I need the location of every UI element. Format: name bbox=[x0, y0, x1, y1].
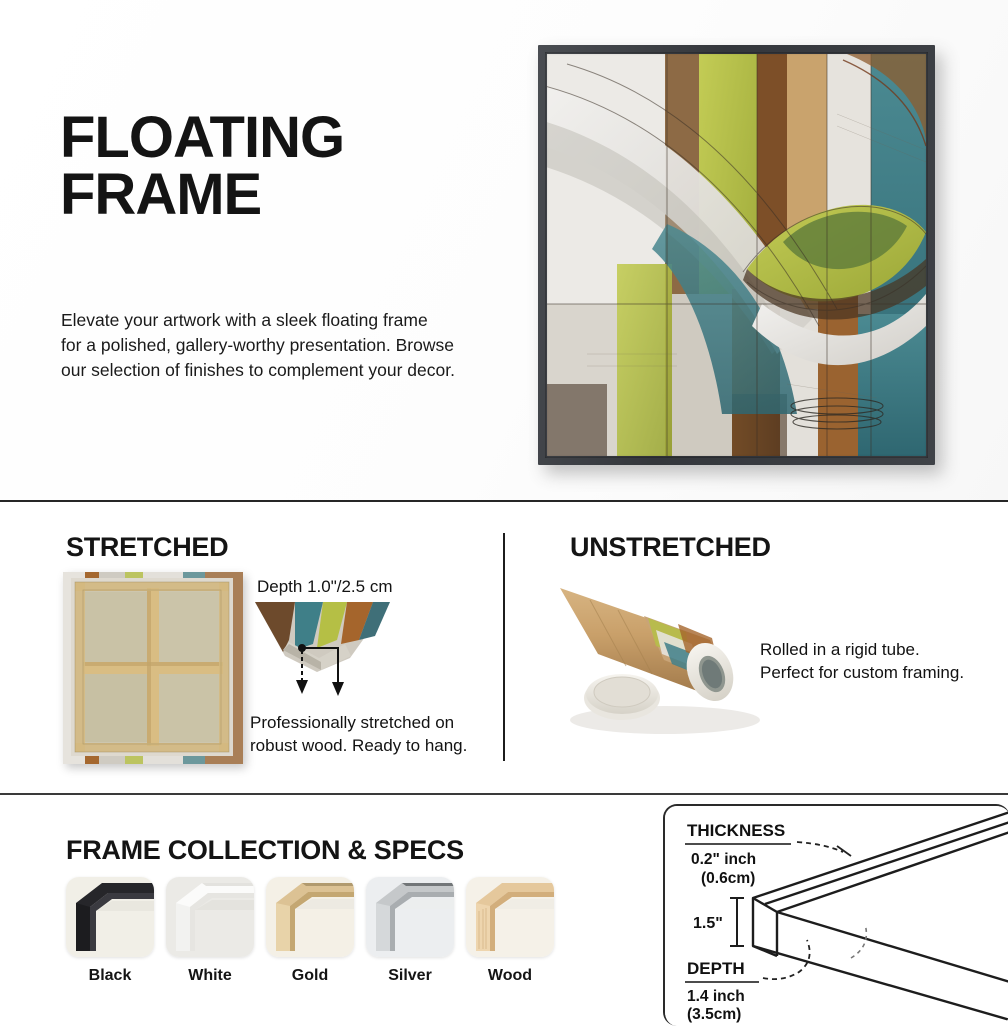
frame-swatch-label-black: Black bbox=[66, 967, 154, 985]
unstretched-heading: UNSTRETCHED bbox=[570, 532, 771, 563]
canvas-back-photo bbox=[63, 572, 243, 764]
frame-swatch-black[interactable]: Black bbox=[66, 877, 154, 985]
hero-section: FLOATING FRAME Elevate your artwork with… bbox=[0, 0, 1008, 502]
frame-swatch-white[interactable]: White bbox=[166, 877, 254, 985]
unstretched-note-line-2: Perfect for custom framing. bbox=[760, 661, 1008, 684]
frame-corner-image-gold bbox=[266, 877, 354, 957]
specs-depth-inch: 1.4 inch bbox=[687, 988, 745, 1005]
frame-swatch-wood[interactable]: Wood bbox=[466, 877, 554, 985]
frame-corner-image-wood bbox=[466, 877, 554, 957]
frame-corner-image-black bbox=[66, 877, 154, 957]
specs-depth-label: DEPTH bbox=[687, 959, 745, 978]
framed-artwork bbox=[538, 45, 935, 465]
frame-collection-section: FRAME COLLECTION & SPECS Black bbox=[0, 795, 1008, 1024]
abstract-painting-image bbox=[547, 54, 926, 456]
depth-dimension-arrows bbox=[290, 642, 370, 702]
specs-depth-cm: (3.5cm) bbox=[687, 1006, 741, 1023]
section-divider-vertical bbox=[503, 533, 505, 761]
unstretched-description: Rolled in a rigid tube. Perfect for cust… bbox=[760, 638, 1008, 685]
frame-corner-image-silver bbox=[366, 877, 454, 957]
title-line-2: FRAME bbox=[60, 167, 500, 224]
specs-thickness-label: THICKNESS bbox=[687, 821, 785, 840]
hero-description: Elevate your artwork with a sleek floati… bbox=[61, 308, 531, 383]
frame-swatch-label-wood: Wood bbox=[466, 967, 554, 985]
specs-thickness-cm: (0.6cm) bbox=[701, 870, 755, 887]
frame-swatch-gold[interactable]: Gold bbox=[266, 877, 354, 985]
frame-collection-heading: FRAME COLLECTION & SPECS bbox=[66, 835, 464, 866]
frame-specs-diagram: THICKNESS 0.2" inch (0.6cm) 1.5" DEPTH 1… bbox=[663, 804, 1008, 1026]
specs-thickness-inch: 0.2" inch bbox=[691, 851, 756, 868]
page-title: FLOATING FRAME bbox=[60, 110, 500, 224]
frame-swatch-list: Black White bbox=[66, 877, 554, 985]
hero-body-line-2: for a polished, gallery-worthy presentat… bbox=[61, 333, 531, 358]
infographic-page: FLOATING FRAME Elevate your artwork with… bbox=[0, 0, 1008, 1024]
hero-body-line-1: Elevate your artwork with a sleek floati… bbox=[61, 308, 531, 333]
stretched-note-line-1: Professionally stretched on bbox=[250, 712, 500, 735]
unstretched-note-line-1: Rolled in a rigid tube. bbox=[760, 638, 1008, 661]
frame-corner-image-white bbox=[166, 877, 254, 957]
frame-swatch-label-white: White bbox=[166, 967, 254, 985]
hero-body-line-3: our selection of finishes to complement … bbox=[61, 358, 531, 383]
frame-swatch-label-gold: Gold bbox=[266, 967, 354, 985]
frame-swatch-label-silver: Silver bbox=[366, 967, 454, 985]
frame-swatch-silver[interactable]: Silver bbox=[366, 877, 454, 985]
shipping-tube-photo bbox=[560, 580, 760, 740]
specs-height-value: 1.5" bbox=[693, 915, 723, 932]
stretched-note-line-2: robust wood. Ready to hang. bbox=[250, 735, 500, 758]
stretched-heading: STRETCHED bbox=[66, 532, 228, 563]
artwork-canvas bbox=[547, 54, 926, 456]
stretched-description: Professionally stretched on robust wood.… bbox=[250, 712, 500, 758]
title-line-1: FLOATING bbox=[60, 110, 500, 167]
depth-measurement-label: Depth 1.0"/2.5 cm bbox=[257, 577, 393, 597]
